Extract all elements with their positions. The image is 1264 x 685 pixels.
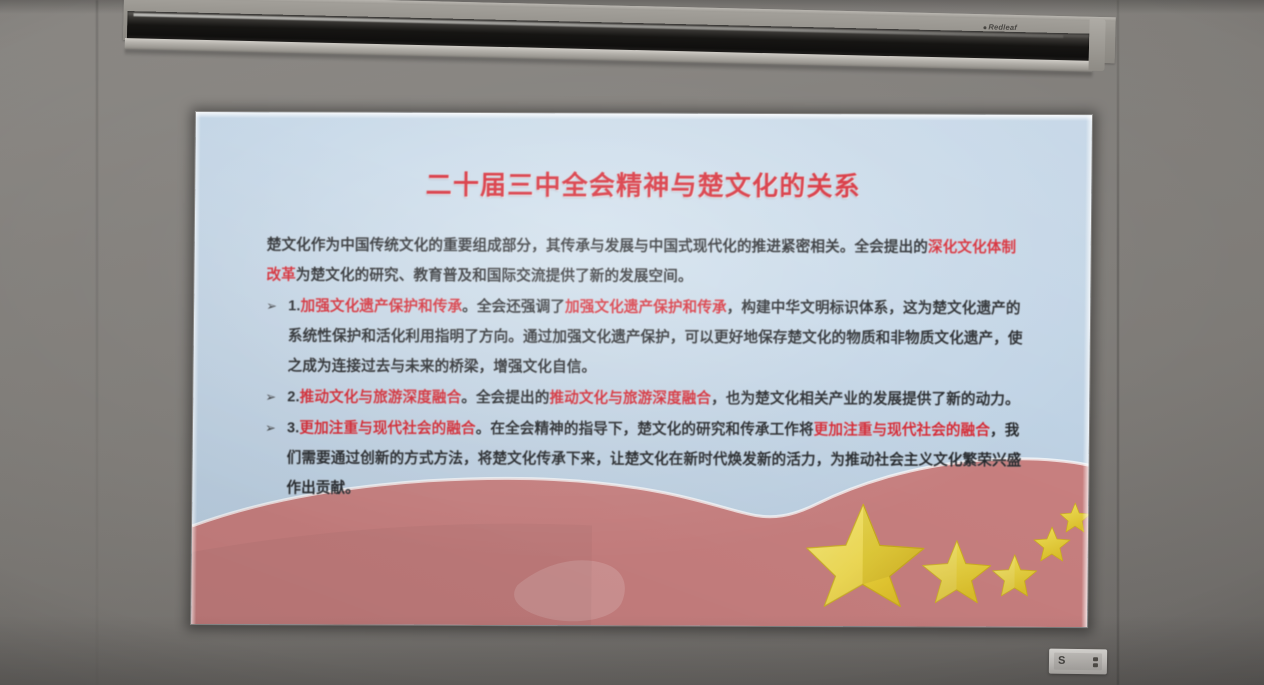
wall-plate-glyph-icon: S <box>1058 656 1065 667</box>
intro-seg-0: 楚文化作为中国传统文化的重要组成部分，其传承与发展与中国式现代化的推进紧密相关。… <box>267 237 928 255</box>
bullet-arrow-icon: ➢ <box>265 382 276 412</box>
point-2-seg-2-highlight: 推动文化与旅游深度融合 <box>549 390 711 407</box>
list-item: ➢1.加强文化遗产保护和传承。全会还强调了加强文化遗产保护和传承，构建中华文明标… <box>265 291 1028 384</box>
slide-body: 楚文化作为中国传统文化的重要组成部分，其传承与发展与中国式现代化的推进紧密相关。… <box>264 230 1029 506</box>
point-2-number: 2. <box>287 389 300 405</box>
point-1-seg-1: 。全会还强调了 <box>462 299 565 315</box>
point-1-seg-0-highlight: 加强文化遗产保护和传承 <box>300 298 462 315</box>
slide-content: 二十届三中全会精神与楚文化的关系 楚文化作为中国传统文化的重要组成部分，其传承与… <box>191 112 1092 627</box>
slide-title: 二十届三中全会精神与楚文化的关系 <box>195 164 1091 204</box>
list-item: ➢2.推动文化与旅游深度融合。全会提出的推动文化与旅游深度融合，也为楚文化相关产… <box>265 382 1027 415</box>
room-photo: Redleaf <box>0 0 1264 685</box>
point-1-number: 1. <box>288 298 301 314</box>
projected-slide: 二十届三中全会精神与楚文化的关系 楚文化作为中国传统文化的重要组成部分，其传承与… <box>191 112 1092 627</box>
intro-seg-2: 为楚文化的研究、教育普及和国际交流提供了新的发展空间。 <box>296 267 693 284</box>
point-1-seg-2-highlight: 加强文化遗产保护和传承 <box>565 299 727 316</box>
point-3-seg-1: 。在全会精神的指导下，楚文化的研究和传承工作将 <box>476 421 814 438</box>
intro-paragraph: 楚文化作为中国传统文化的重要组成部分，其传承与发展与中国式现代化的推进紧密相关。… <box>266 230 1029 293</box>
point-3-seg-0-highlight: 更加注重与现代社会的融合 <box>299 420 475 437</box>
bullet-arrow-icon: ➢ <box>266 291 277 321</box>
wall-plate-face: S <box>1054 653 1102 671</box>
list-item: ➢3.更加注重与现代社会的融合。在全会精神的指导下，楚文化的研究和传承工作将更加… <box>264 413 1027 506</box>
wall-seam-right <box>1117 0 1119 685</box>
point-3-seg-2-highlight: 更加注重与现代社会的融合 <box>814 422 990 439</box>
housing-end-cap <box>1088 19 1105 71</box>
point-2-seg-3: ，也为楚文化相关产业的发展提供了新的动力。 <box>711 391 1020 408</box>
point-3-number: 3. <box>287 420 300 436</box>
point-2-seg-0-highlight: 推动文化与旅游深度融合 <box>300 389 462 406</box>
point-2-seg-1: 。全会提出的 <box>461 390 549 406</box>
wall-plate-indicator-dots <box>1093 657 1098 667</box>
wall-seam-left <box>96 0 98 685</box>
bullet-arrow-icon: ➢ <box>265 413 276 443</box>
wall-mounted-plate[interactable]: S <box>1049 649 1107 675</box>
slide-surface: 二十届三中全会精神与楚文化的关系 楚文化作为中国传统文化的重要组成部分，其传承与… <box>191 112 1092 627</box>
